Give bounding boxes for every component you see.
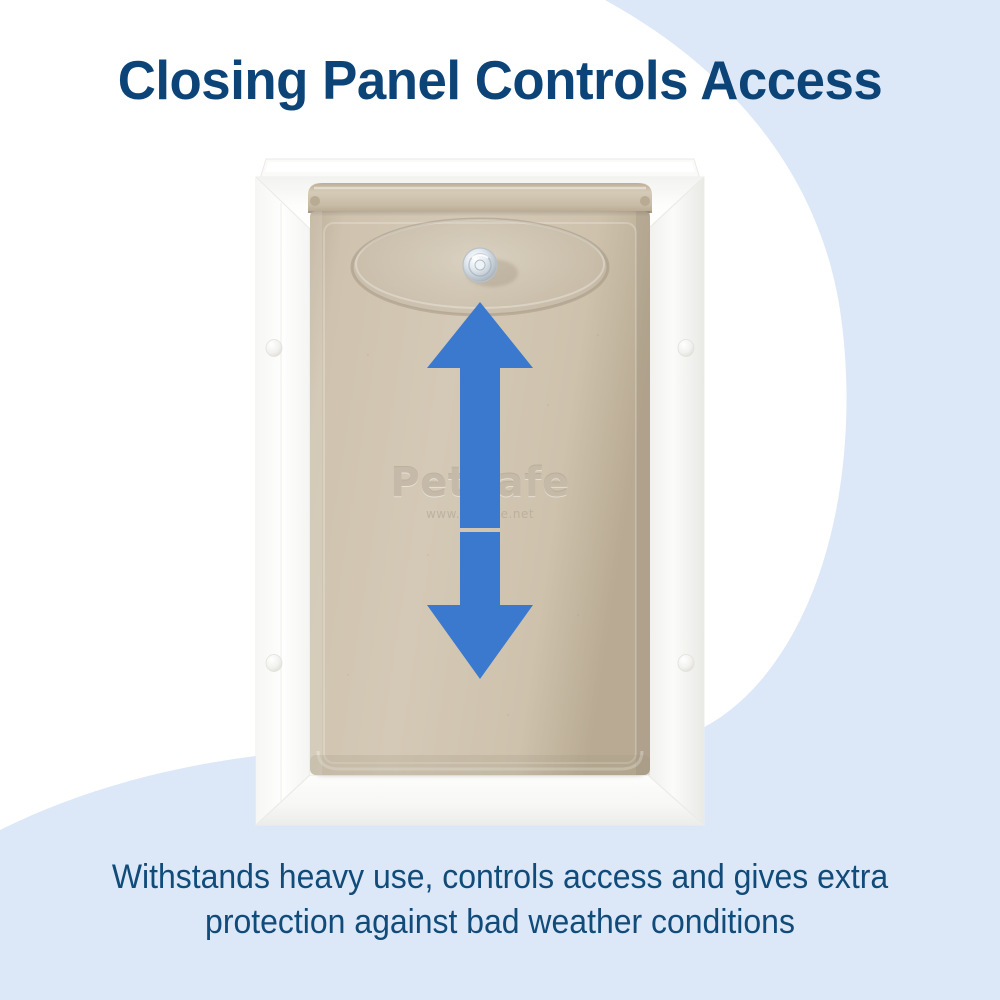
screw-cap-top-right bbox=[678, 340, 694, 357]
caption-text: Withstands heavy use, controls access an… bbox=[86, 855, 913, 945]
pet-door-svg bbox=[248, 155, 712, 833]
frame-top-flange-highlight bbox=[265, 162, 695, 172]
screw-cap-top-left bbox=[266, 340, 282, 357]
infographic-canvas: Closing Panel Controls Access bbox=[0, 0, 1000, 1000]
screw-cap-bottom-left bbox=[266, 655, 282, 672]
panel-bottom-shade bbox=[310, 755, 650, 775]
frame-bevel-bottom bbox=[256, 775, 704, 825]
frame-bevel-left bbox=[256, 177, 310, 825]
page-title: Closing Panel Controls Access bbox=[20, 52, 980, 110]
caption-line-2: protection against bad weather condition… bbox=[86, 900, 913, 945]
panel-rail-tab-right bbox=[640, 196, 650, 206]
frame-bevel-right bbox=[648, 177, 704, 825]
screw-cap-bottom-right bbox=[678, 655, 694, 672]
panel-right-shade bbox=[636, 211, 650, 775]
panel-rail-tab-left bbox=[310, 196, 320, 206]
panel-left-highlight bbox=[310, 211, 322, 775]
caption-line-1: Withstands heavy use, controls access an… bbox=[86, 855, 913, 900]
product-image bbox=[248, 155, 712, 833]
knob-center bbox=[475, 260, 485, 270]
